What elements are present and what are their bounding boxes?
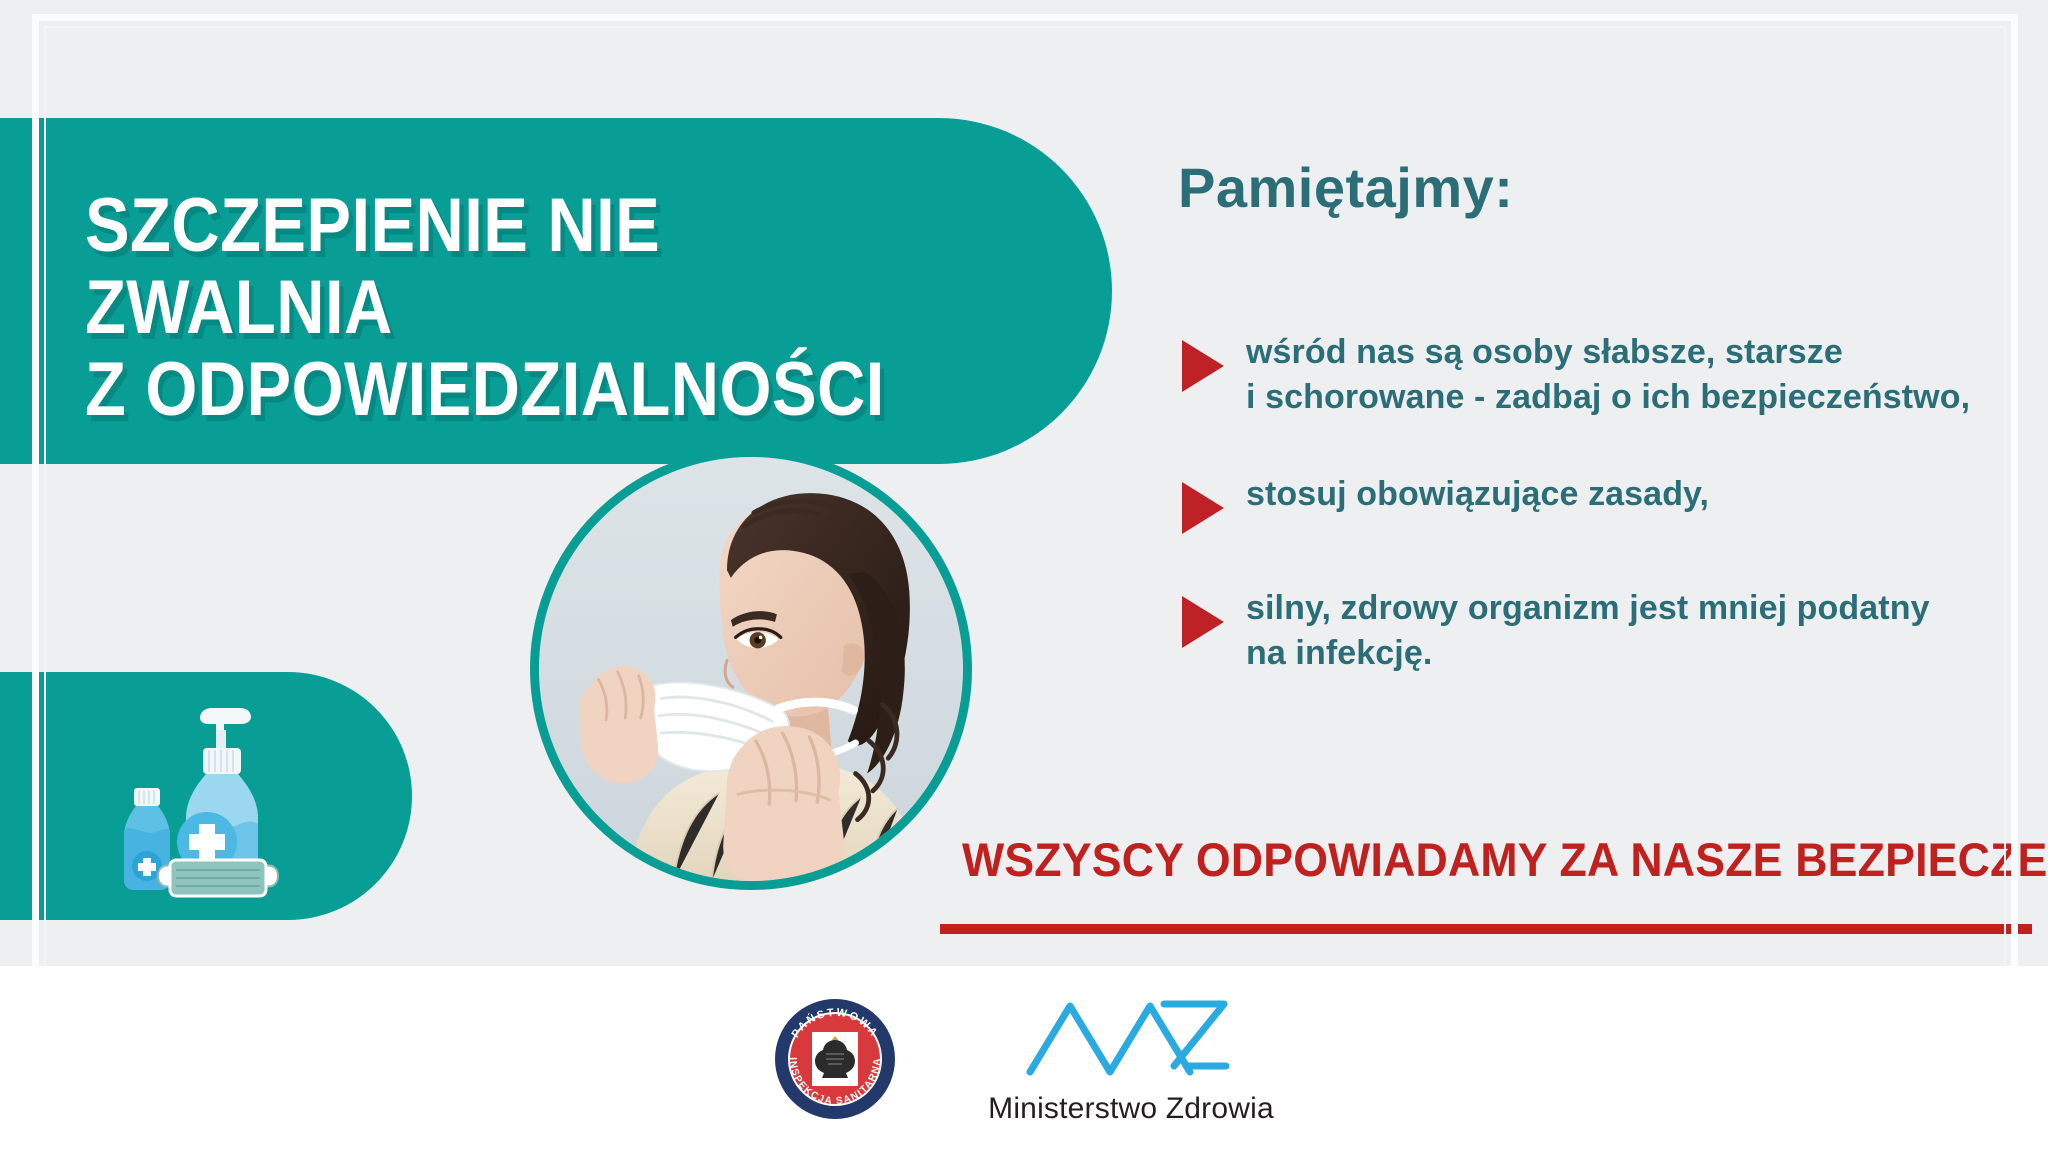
triangle-bullet-icon [1182,340,1224,392]
ministry-of-health-logo: Ministerstwo Zdrowia [988,992,1274,1126]
woman-putting-on-face-mask-photo [530,448,972,890]
list-item: silny, zdrowy organizm jest mniej podatn… [1182,586,2012,676]
slogan-underline [940,924,2032,934]
list-item-label: stosuj obowiązujące zasady, [1246,472,1709,517]
list-item: stosuj obowiązujące zasady, [1182,472,2012,534]
slogan-text: WSZYSCY ODPOWIADAMY ZA NASZE BEZPIECZEŃS… [962,832,1979,887]
triangle-bullet-icon [1182,482,1224,534]
sanepid-logo: PAŃSTWOWA INSPEKCJA SANITARNA [774,998,896,1120]
remember-heading: Pamiętajmy: [1178,155,1513,220]
hand-sanitizer-and-mask-illustration [108,690,318,906]
bullet-list: wśród nas są osoby słabsze, starsze i sc… [1182,330,2012,728]
ministry-of-health-label: Ministerstwo Zdrowia [988,1092,1274,1126]
main-panel: SZCZEPIENIE NIE ZWALNIA Z ODPOWIEDZIALNO… [0,0,2048,966]
mz-zigzag-icon [1024,992,1238,1084]
poster-root: SZCZEPIENIE NIE ZWALNIA Z ODPOWIEDZIALNO… [0,0,2048,1152]
footer: PAŃSTWOWA INSPEKCJA SANITARNA Ministe [0,966,2048,1152]
footer-logos: PAŃSTWOWA INSPEKCJA SANITARNA Ministe [0,966,2048,1152]
list-item-label: silny, zdrowy organizm jest mniej podatn… [1246,586,1930,676]
triangle-bullet-icon [1182,596,1224,648]
page-title: SZCZEPIENIE NIE ZWALNIA Z ODPOWIEDZIALNO… [85,185,930,431]
list-item-label: wśród nas są osoby słabsze, starsze i sc… [1246,330,1970,420]
list-item: wśród nas są osoby słabsze, starsze i sc… [1182,330,2012,420]
